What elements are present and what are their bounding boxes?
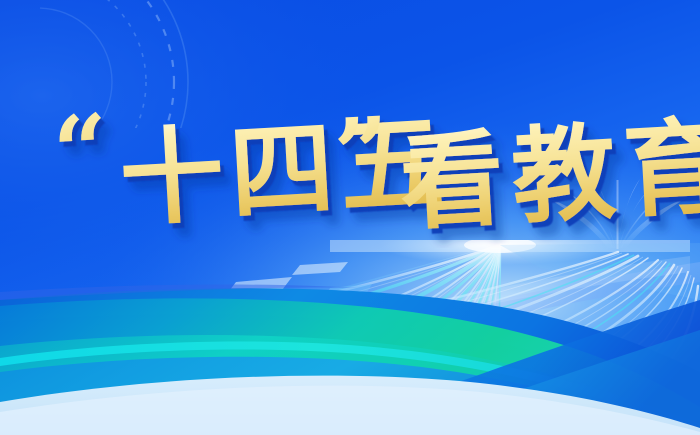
banner-root: “ 十四五 ” 看教育 “十四五”看教育 xyxy=(0,0,700,435)
wave-ribbons-decoration xyxy=(0,0,700,435)
